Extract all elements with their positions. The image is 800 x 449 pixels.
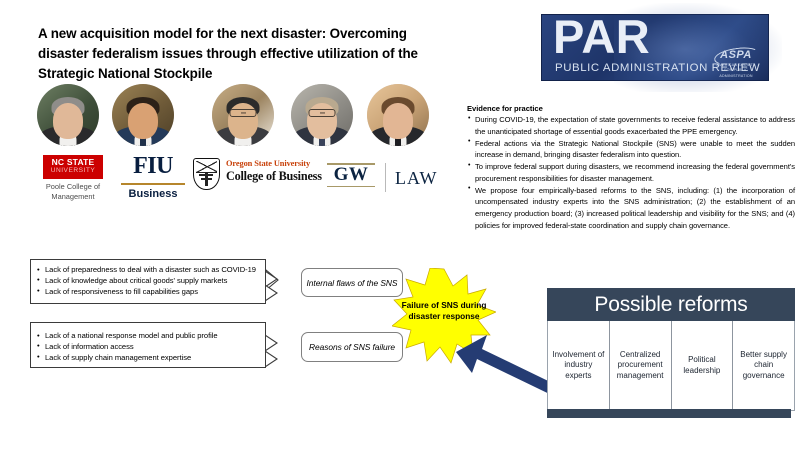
evidence-for-practice: Evidence for practice During COVID-19, t… xyxy=(467,104,795,232)
slide-canvas: A new acquisition model for the next dis… xyxy=(0,0,800,449)
osu-line2: College of Business xyxy=(226,169,322,184)
list-item: Lack of knowledge about critical goods' … xyxy=(36,276,259,287)
evidence-item: To improve federal support during disast… xyxy=(467,161,795,185)
reform-column: Centralized procurement management xyxy=(610,321,672,410)
evidence-heading: Evidence for practice xyxy=(467,104,795,113)
evidence-list: During COVID-19, the expectation of stat… xyxy=(467,114,795,232)
reform-label: Political leadership xyxy=(675,355,730,376)
box-reasons-failure-causes: Lack of a national response model and pu… xyxy=(30,322,266,368)
avatar xyxy=(212,84,274,146)
reform-column: Political leadership xyxy=(672,321,734,410)
avatar xyxy=(37,84,99,146)
gw-word: LAW xyxy=(395,168,438,189)
logo-fiu: FIU Business xyxy=(119,154,187,200)
reform-column: Better supply chain governance xyxy=(733,321,794,410)
glasses-icon xyxy=(309,109,336,117)
gw-mark-box: GW xyxy=(327,163,375,187)
evidence-item: Federal actions via the Strategic Nation… xyxy=(467,138,795,162)
list-item: Lack of information access xyxy=(36,342,259,353)
list-item: Lack of preparedness to deal with a disa… xyxy=(36,265,259,276)
reform-label: Better supply chain governance xyxy=(736,350,791,382)
logo-gw-law: GW LAW xyxy=(327,163,437,193)
logo-nc-state: NC STATE UNIVERSITY Poole College of Man… xyxy=(37,155,109,201)
nc-state-line1: NC STATE xyxy=(43,158,103,167)
journal-logo: PAR PUBLIC ADMINISTRATION REVIEW ASPA AM… xyxy=(541,14,769,81)
glasses-icon xyxy=(230,109,257,117)
list-item: Lack of supply chain management expertis… xyxy=(36,353,259,364)
aspa-logo: ASPA AMERICAN SOCIETY FOR PUBLIC ADMINIS… xyxy=(713,50,759,76)
reasons-failure-list: Lack of a national response model and pu… xyxy=(36,331,259,364)
reforms-table: Involvement of industry experts Centrali… xyxy=(547,321,795,411)
box-internal-flaws-causes: Lack of preparedness to deal with a disa… xyxy=(30,259,266,304)
avatar xyxy=(112,84,174,146)
pill-reasons-failure: Reasons of SNS failure xyxy=(301,332,403,362)
reforms-title: Possible reforms xyxy=(594,293,747,317)
gw-rule-bottom xyxy=(327,186,375,188)
journal-acronym: PAR xyxy=(553,13,650,60)
aspa-tagline: AMERICAN SOCIETY FOR PUBLIC ADMINISTRATI… xyxy=(713,63,759,79)
nc-state-badge: NC STATE UNIVERSITY xyxy=(43,155,103,179)
page-title: A new acquisition model for the next dis… xyxy=(38,24,458,83)
list-item: Lack of responsiveness to fill capabilit… xyxy=(36,287,259,298)
nc-state-caption: Poole College of Management xyxy=(37,182,109,201)
reforms-footer-bar xyxy=(547,409,791,418)
evidence-item: We propose four empirically-based reform… xyxy=(467,185,795,232)
nc-state-line2: UNIVERSITY xyxy=(43,167,103,175)
pill-label: Internal flaws of the SNS xyxy=(307,278,398,288)
avatar xyxy=(367,84,429,146)
affiliation-logos: NC STATE UNIVERSITY Poole College of Man… xyxy=(0,152,460,212)
osu-shield-icon xyxy=(193,158,220,190)
pill-internal-flaws: Internal flaws of the SNS xyxy=(301,268,403,297)
reform-column: Involvement of industry experts xyxy=(548,321,610,410)
fiu-word: Business xyxy=(119,189,187,200)
osu-line1: Oregon State University xyxy=(226,159,310,168)
fiu-rule xyxy=(121,183,185,185)
reform-label: Centralized procurement management xyxy=(613,350,668,382)
list-item: Lack of a national response model and pu… xyxy=(36,331,259,342)
possible-reforms-panel: Possible reforms Involvement of industry… xyxy=(547,288,795,411)
gw-mark: GW xyxy=(327,165,375,186)
avatar xyxy=(291,84,353,146)
internal-flaws-list: Lack of preparedness to deal with a disa… xyxy=(36,265,259,298)
reform-label: Involvement of industry experts xyxy=(551,350,606,382)
gw-divider xyxy=(385,163,386,192)
evidence-item: During COVID-19, the expectation of stat… xyxy=(467,114,795,138)
pill-label: Reasons of SNS failure xyxy=(309,342,395,352)
reforms-header: Possible reforms xyxy=(547,288,795,321)
fiu-mark: FIU xyxy=(119,154,187,178)
